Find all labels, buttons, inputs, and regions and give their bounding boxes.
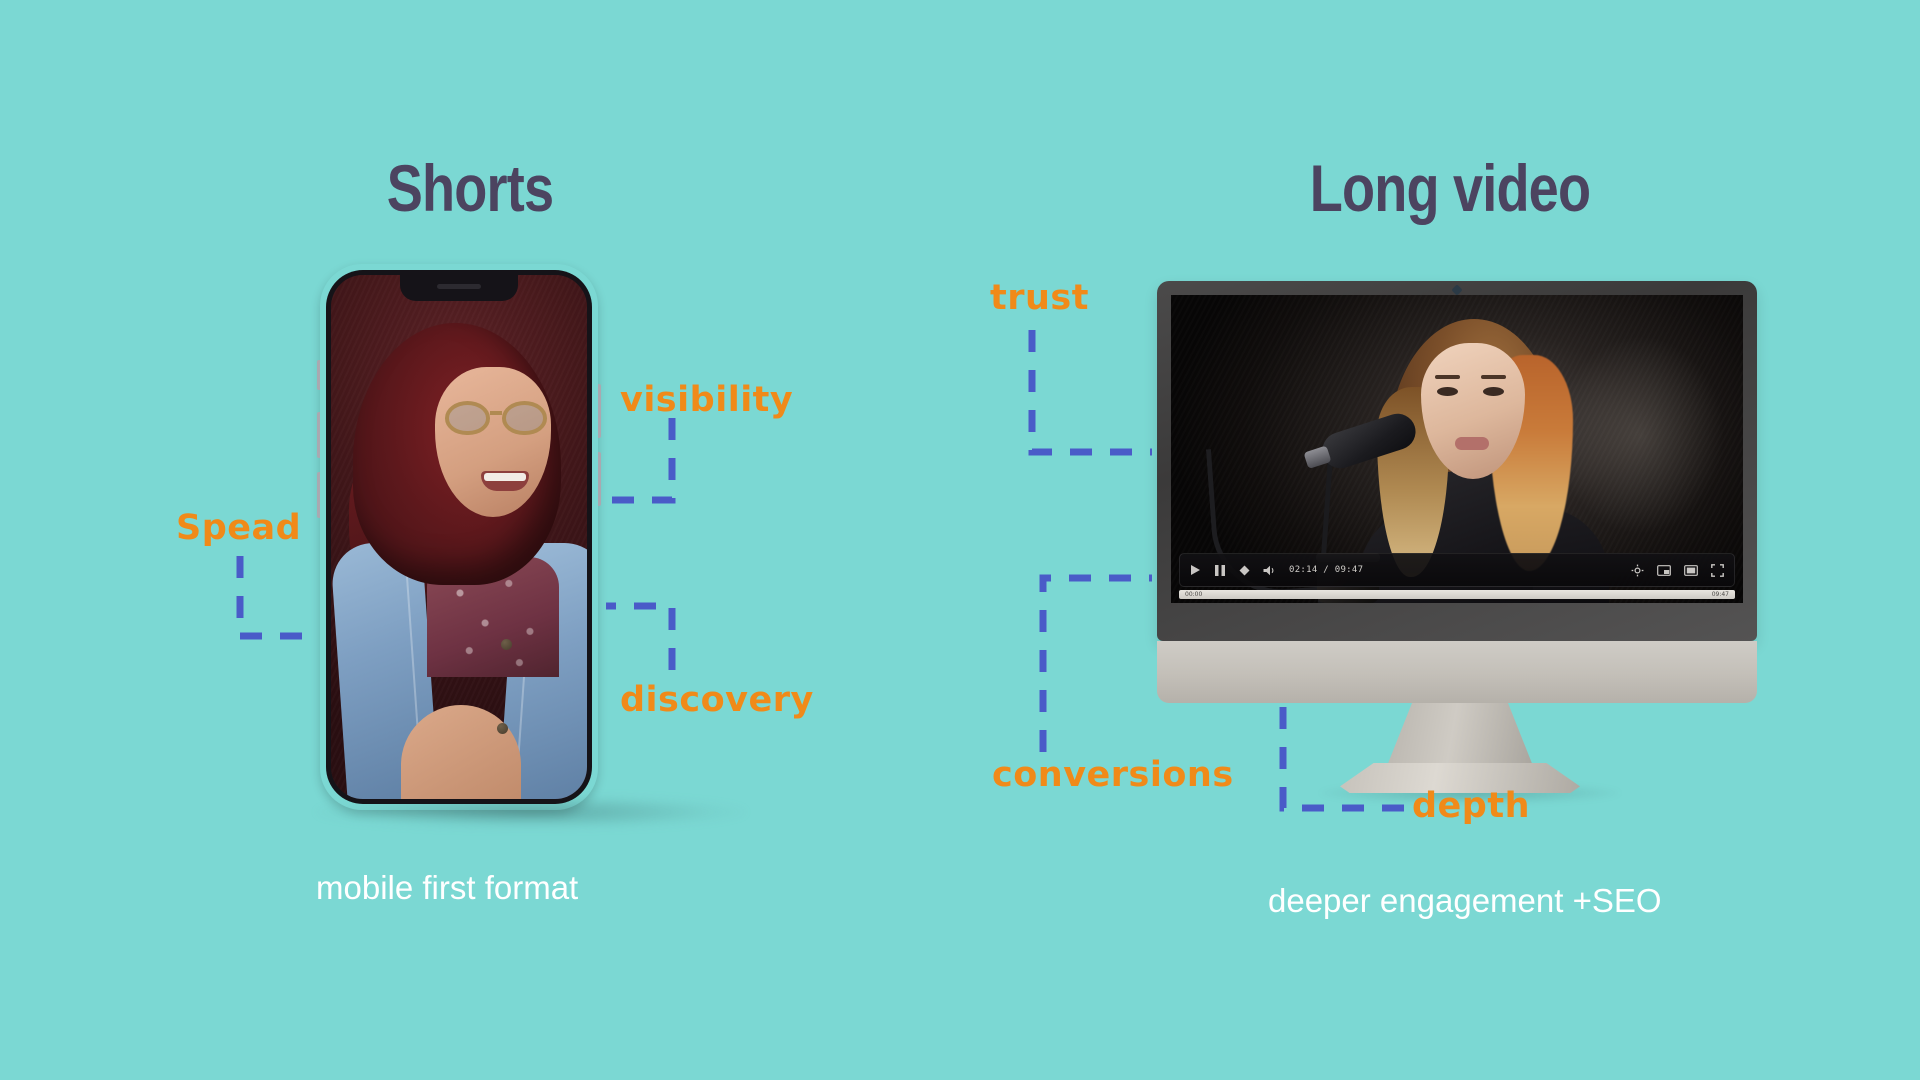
phone-screen [331, 275, 587, 799]
monitor-stand-neck [1385, 703, 1535, 771]
player-time-display: 02:14 / 09:47 [1289, 565, 1363, 575]
video-progress-bar[interactable]: 00:00 09:47 [1179, 590, 1735, 599]
phone-vest-button-bottom [497, 723, 508, 734]
connector-trust [1032, 330, 1152, 452]
connector-discovery [606, 606, 672, 670]
progress-start-time: 00:00 [1185, 591, 1202, 598]
picture-in-picture-icon[interactable] [1657, 565, 1671, 576]
connector-visibility [612, 418, 672, 500]
player-left-controls: 02:14 / 09:47 [1190, 564, 1363, 577]
infographic-canvas: Shorts Long video [0, 0, 1920, 1080]
volume-icon[interactable] [1263, 565, 1276, 576]
video-player-control-bar[interactable]: 02:14 / 09:47 [1179, 553, 1735, 587]
heading-long-video: Long video [1270, 150, 1631, 226]
label-visibility: visibility [620, 380, 793, 420]
phone-volume-down-button [317, 472, 320, 518]
stop-icon[interactable] [1239, 565, 1250, 576]
webcam-icon [1451, 284, 1462, 295]
phone-side-button [598, 452, 601, 506]
phone-subject-smile [481, 471, 529, 491]
caption-mobile-first-format: mobile first format [316, 869, 578, 907]
label-discovery: discovery [620, 680, 814, 720]
theater-mode-icon[interactable] [1684, 565, 1698, 576]
monitor-subject-brow-right [1481, 375, 1506, 379]
monitor-subject-lips [1455, 437, 1489, 450]
monitor-screen: 02:14 / 09:47 [1171, 295, 1743, 603]
phone-notch [400, 275, 518, 301]
phone-power-button [598, 384, 601, 438]
heading-shorts: Shorts [306, 150, 634, 226]
smartphone-mockup [320, 264, 598, 810]
phone-subject-glasses [445, 401, 551, 435]
phone-mute-switch [317, 360, 320, 390]
monitor-subject-eye-left [1437, 387, 1458, 396]
fullscreen-icon[interactable] [1711, 564, 1724, 577]
monitor-key-light [1555, 335, 1725, 535]
caption-deeper-engagement-seo: deeper engagement +SEO [1268, 882, 1662, 920]
connector-conversions [1043, 578, 1152, 752]
play-icon[interactable] [1190, 564, 1201, 576]
progress-end-time: 09:47 [1712, 591, 1729, 598]
phone-volume-up-button [317, 412, 320, 458]
phone-bezel [326, 270, 592, 804]
phone-vest-button-top [501, 639, 512, 650]
monitor-subject-eye-right [1483, 387, 1504, 396]
player-right-controls [1631, 564, 1724, 577]
label-spead: Spead [176, 508, 301, 548]
label-trust: trust [990, 278, 1089, 318]
monitor-chin [1157, 641, 1757, 703]
label-depth: depth [1412, 786, 1530, 826]
label-conversions: conversions [992, 755, 1234, 795]
monitor-subject-brow-left [1435, 375, 1460, 379]
settings-icon[interactable] [1631, 564, 1644, 577]
desktop-monitor-mockup: 02:14 / 09:47 [1157, 281, 1757, 641]
connector-spead [240, 556, 318, 636]
pause-icon[interactable] [1214, 564, 1226, 577]
